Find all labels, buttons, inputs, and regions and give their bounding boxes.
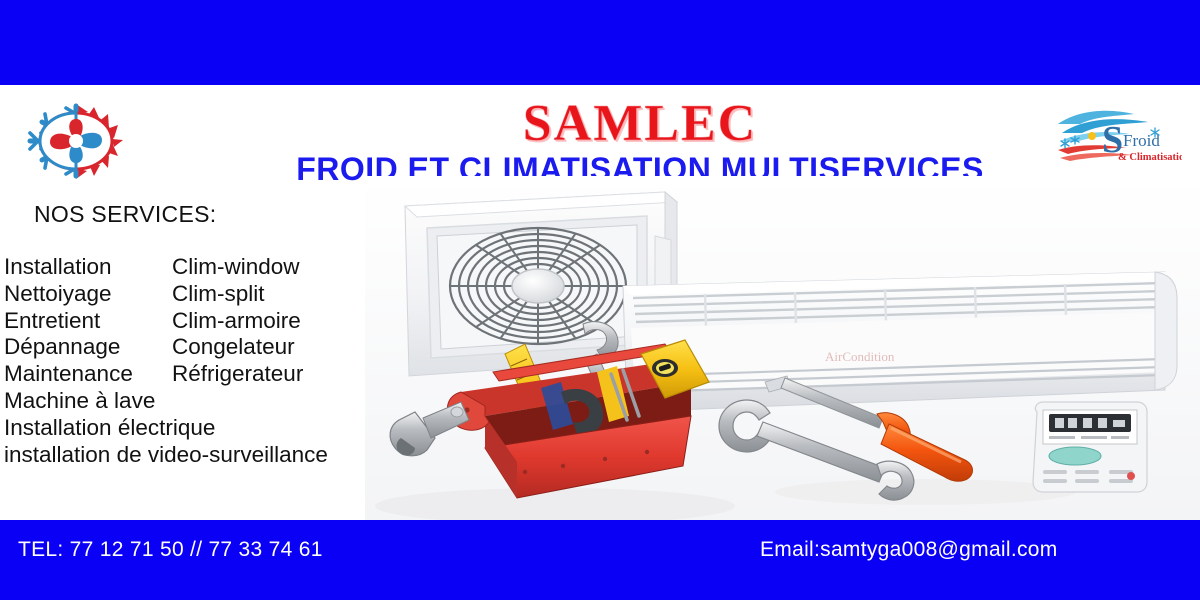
s-froid-logo: S Froid & Climatisation bbox=[1056, 104, 1182, 166]
wall-split-ac-unit: AirCondition bbox=[623, 272, 1177, 412]
services-list: Installation Clim-window Nettoiyage Clim… bbox=[4, 254, 384, 468]
ac-brand-label: AirCondition bbox=[825, 349, 895, 364]
service-left: Entretient bbox=[4, 308, 172, 335]
list-item: Entretient Clim-armoire bbox=[4, 308, 384, 335]
advertisement-banner: SAMLEC FROID ET CLIMATISATION MULTISERVI… bbox=[0, 0, 1200, 600]
service-left: Dépannage bbox=[4, 334, 172, 361]
service-extra: installation de video-surveillance bbox=[4, 442, 328, 469]
service-right: Réfrigerateur bbox=[172, 361, 303, 388]
list-item: Installation Clim-window bbox=[4, 254, 384, 281]
page-title: SAMLEC bbox=[240, 98, 1040, 150]
ac-remote-control bbox=[1033, 402, 1147, 492]
phone-number[interactable]: TEL: 77 12 71 50 // 77 33 74 61 bbox=[18, 538, 323, 562]
top-blue-band bbox=[0, 0, 1200, 85]
service-right: Clim-split bbox=[172, 281, 265, 308]
list-item: Installation électrique bbox=[4, 415, 384, 442]
list-item: Nettoiyage Clim-split bbox=[4, 281, 384, 308]
service-right: Clim-armoire bbox=[172, 308, 301, 335]
list-item: Machine à lave bbox=[4, 388, 384, 415]
service-left: Maintenance bbox=[4, 361, 172, 388]
email-address[interactable]: Email:samtyga008@gmail.com bbox=[760, 538, 1058, 562]
service-right: Clim-window bbox=[172, 254, 300, 281]
service-left: Installation bbox=[4, 254, 172, 281]
service-right: Congelateur bbox=[172, 334, 295, 361]
list-item: Dépannage Congelateur bbox=[4, 334, 384, 361]
list-item: installation de video-surveillance bbox=[4, 442, 384, 469]
service-extra: Installation électrique bbox=[4, 415, 215, 442]
s-froid-line2: & Climatisation bbox=[1118, 152, 1182, 163]
snowflake-sun-icon bbox=[16, 100, 136, 182]
list-item: Maintenance Réfrigerateur bbox=[4, 361, 384, 388]
product-photo: AirCondition bbox=[365, 176, 1200, 520]
service-extra: Machine à lave bbox=[4, 388, 155, 415]
services-heading: NOS SERVICES: bbox=[34, 201, 216, 228]
service-left: Nettoiyage bbox=[4, 281, 172, 308]
